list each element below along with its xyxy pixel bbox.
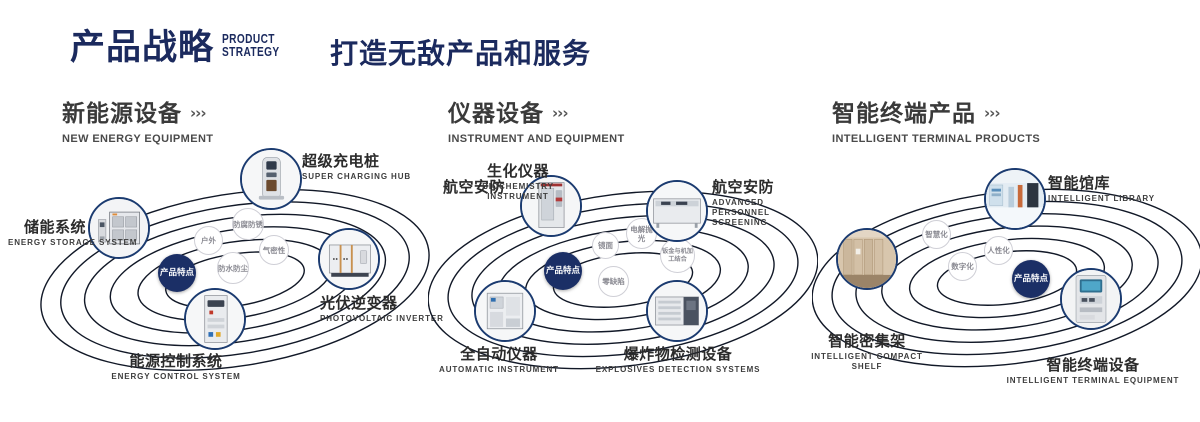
- energy-storage-photo: [90, 199, 148, 257]
- core-bubble-label: 产品特点: [546, 266, 580, 276]
- intelligent-library-photo: [986, 170, 1044, 228]
- caption-cn: 能源控制系统: [96, 352, 256, 370]
- caption-cn: 生化仪器: [460, 162, 576, 180]
- page-title-en: PRODUCT STRATEGY: [222, 32, 280, 58]
- caption-en: ENERGY CONTROL SYSTEM: [96, 372, 256, 382]
- chevron-right-icon: ›››: [190, 104, 206, 122]
- feature-bubble: 智慧化: [922, 220, 951, 249]
- caption-en: ADVANCED PERSONNEL SCREENING: [712, 198, 822, 228]
- caption-cn: 全自动仪器: [420, 345, 578, 363]
- feature-bubble: 零缺陷: [598, 266, 629, 297]
- section-title-en: INTELLIGENT TERMINAL PRODUCTS: [832, 133, 1040, 145]
- feature-bubble: 人性化: [984, 236, 1013, 265]
- section-heading-intelligent: 智能终端产品››› INTELLIGENT TERMINAL PRODUCTS: [832, 94, 1040, 145]
- screening-machine-photo: [648, 182, 706, 240]
- caption-en: INTELLIGENT TERMINAL EQUIPMENT: [988, 376, 1198, 386]
- feature-bubble-label: 智慧化: [925, 230, 948, 239]
- caption-cn: 航空安防: [712, 178, 822, 196]
- section-title-en: INSTRUMENT AND EQUIPMENT: [448, 133, 625, 145]
- section-title-en: NEW ENERGY EQUIPMENT: [62, 133, 213, 145]
- feature-bubble-label: 镜面: [598, 241, 613, 250]
- caption-energy-control-system: 能源控制系统 ENERGY CONTROL SYSTEM: [96, 352, 256, 382]
- caption-en: INTELLIGENT COMPACT SHELF: [798, 352, 936, 372]
- core-bubble: 产品特点: [1012, 260, 1050, 298]
- section-heading-instrument: 仪器设备››› INSTRUMENT AND EQUIPMENT: [448, 94, 625, 145]
- chevron-right-icon: ›››: [984, 104, 1000, 122]
- page-subtitle: 打造无敌产品和服务: [330, 32, 591, 72]
- feature-bubble-label: 户外: [201, 236, 216, 245]
- section-title-cn: 智能终端产品›››: [832, 94, 1040, 128]
- feature-bubble-label: 人性化: [987, 246, 1010, 255]
- section-title-cn-text: 智能终端产品: [832, 101, 976, 127]
- caption-en: INTELLIGENT LIBRARY: [1048, 194, 1155, 204]
- section-title-cn: 仪器设备›››: [448, 94, 625, 128]
- chevron-right-icon: ›››: [552, 104, 568, 122]
- core-bubble: 产品特点: [158, 254, 196, 292]
- node-energy-control-system[interactable]: [184, 288, 246, 350]
- feature-bubble: 数字化: [948, 252, 977, 281]
- feature-bubble-label: 防腐防锈: [233, 220, 263, 229]
- caption-energy-storage-system: 储能系统 ENERGY STORAGE SYSTEM: [8, 218, 86, 248]
- page-title-en-line2: STRATEGY: [222, 45, 280, 58]
- infographic-root: 产品战略 PRODUCT STRATEGY 打造无敌产品和服务 新能源设备›››…: [0, 0, 1200, 422]
- caption-cn: 智能密集架: [798, 332, 936, 350]
- node-super-charging-hub[interactable]: [240, 148, 302, 210]
- caption-intelligent-terminal-equipment: 智能终端设备 INTELLIGENT TERMINAL EQUIPMENT: [988, 356, 1198, 386]
- caption-cn: 爆炸物检测设备: [594, 345, 762, 363]
- section-title-cn-text: 仪器设备: [448, 101, 544, 127]
- node-energy-storage-system[interactable]: [88, 197, 150, 259]
- inverter-photo: [320, 230, 378, 288]
- node-advanced-personnel-screening[interactable]: [646, 180, 708, 242]
- feature-bubble-label: 零缺陷: [602, 277, 625, 286]
- feature-bubble: 户外: [194, 226, 223, 255]
- node-photovoltaic-inverter[interactable]: [318, 228, 380, 290]
- caption-advanced-personnel-screening: 航空安防 ADVANCED PERSONNEL SCREENING: [712, 178, 822, 228]
- feature-bubble: 镜面: [592, 232, 619, 259]
- control-cabinet-photo: [186, 290, 244, 348]
- caption-en: BIOCHEMISTRY INSTRUMENT: [460, 182, 576, 202]
- caption-cn: 智能馆库: [1048, 174, 1155, 192]
- caption-explosives-detection: 爆炸物检测设备 EXPLOSIVES DETECTION SYSTEMS: [594, 345, 762, 375]
- core-bubble-label: 产品特点: [160, 268, 194, 278]
- node-automatic-instrument[interactable]: [474, 280, 536, 342]
- core-bubble: 产品特点: [544, 252, 582, 290]
- node-intelligent-terminal-equipment[interactable]: [1060, 268, 1122, 330]
- caption-en: ENERGY STORAGE SYSTEM: [8, 238, 86, 248]
- page-header: 产品战略 PRODUCT STRATEGY 打造无敌产品和服务: [0, 0, 1200, 86]
- node-explosives-detection[interactable]: [646, 280, 708, 342]
- page-title-cn: 产品战略: [70, 26, 214, 70]
- cluster-new-energy: 产品特点 户外 防腐防锈 防水防尘 气密性: [40, 160, 430, 390]
- caption-en: EXPLOSIVES DETECTION SYSTEMS: [594, 365, 762, 375]
- feature-bubble-label: 防水防尘: [218, 264, 248, 273]
- caption-en: SUPER CHARGING HUB: [302, 172, 411, 182]
- cluster-intelligent-terminal: 智慧化 人性化 数字化 产品特点 智能馆库: [812, 160, 1200, 390]
- core-bubble-label: 产品特点: [1014, 274, 1048, 284]
- caption-photovoltaic-inverter: 光伏逆变器 PHOTOVOLTAIC INVERTER: [320, 294, 444, 324]
- feature-bubble: 防腐防锈: [232, 208, 264, 240]
- caption-en: AUTOMATIC INSTRUMENT: [420, 365, 578, 375]
- caption-intelligent-compact-shelf: 智能密集架 INTELLIGENT COMPACT SHELF: [798, 332, 936, 372]
- feature-bubble-label: 数字化: [951, 262, 974, 271]
- node-intelligent-compact-shelf[interactable]: [836, 228, 898, 290]
- charging-hub-photo: [242, 150, 300, 208]
- section-title-cn-text: 新能源设备: [62, 101, 182, 127]
- cluster-instrument: 产品特点 镜面 电解抛光 钣金与机加工结合 零缺陷 航空安防: [428, 160, 818, 390]
- automatic-instrument-photo: [476, 282, 534, 340]
- caption-intelligent-library: 智能馆库 INTELLIGENT LIBRARY: [1048, 174, 1155, 204]
- caption-super-charging-hub: 超级充电桩 SUPER CHARGING HUB: [302, 152, 411, 182]
- caption-cn: 储能系统: [8, 218, 86, 236]
- caption-cn: 智能终端设备: [988, 356, 1198, 374]
- node-intelligent-library[interactable]: [984, 168, 1046, 230]
- explosives-detection-photo: [648, 282, 706, 340]
- terminal-equipment-photo: [1062, 270, 1120, 328]
- feature-bubble: 钣金与机加工结合: [660, 238, 695, 273]
- caption-cn: 超级充电桩: [302, 152, 411, 170]
- caption-cn: 光伏逆变器: [320, 294, 444, 312]
- compact-shelf-photo: [838, 230, 896, 288]
- section-heading-new-energy: 新能源设备››› NEW ENERGY EQUIPMENT: [62, 94, 213, 145]
- caption-biochemistry-instrument: 生化仪器 BIOCHEMISTRY INSTRUMENT: [460, 162, 576, 202]
- caption-en: PHOTOVOLTAIC INVERTER: [320, 314, 444, 324]
- feature-bubble-label: 气密性: [263, 246, 286, 255]
- feature-bubble: 防水防尘: [217, 252, 249, 284]
- caption-automatic-instrument: 全自动仪器 AUTOMATIC INSTRUMENT: [420, 345, 578, 375]
- feature-bubble: 气密性: [259, 235, 289, 265]
- feature-bubble-label: 钣金与机加工结合: [661, 248, 694, 263]
- section-title-cn: 新能源设备›››: [62, 94, 213, 128]
